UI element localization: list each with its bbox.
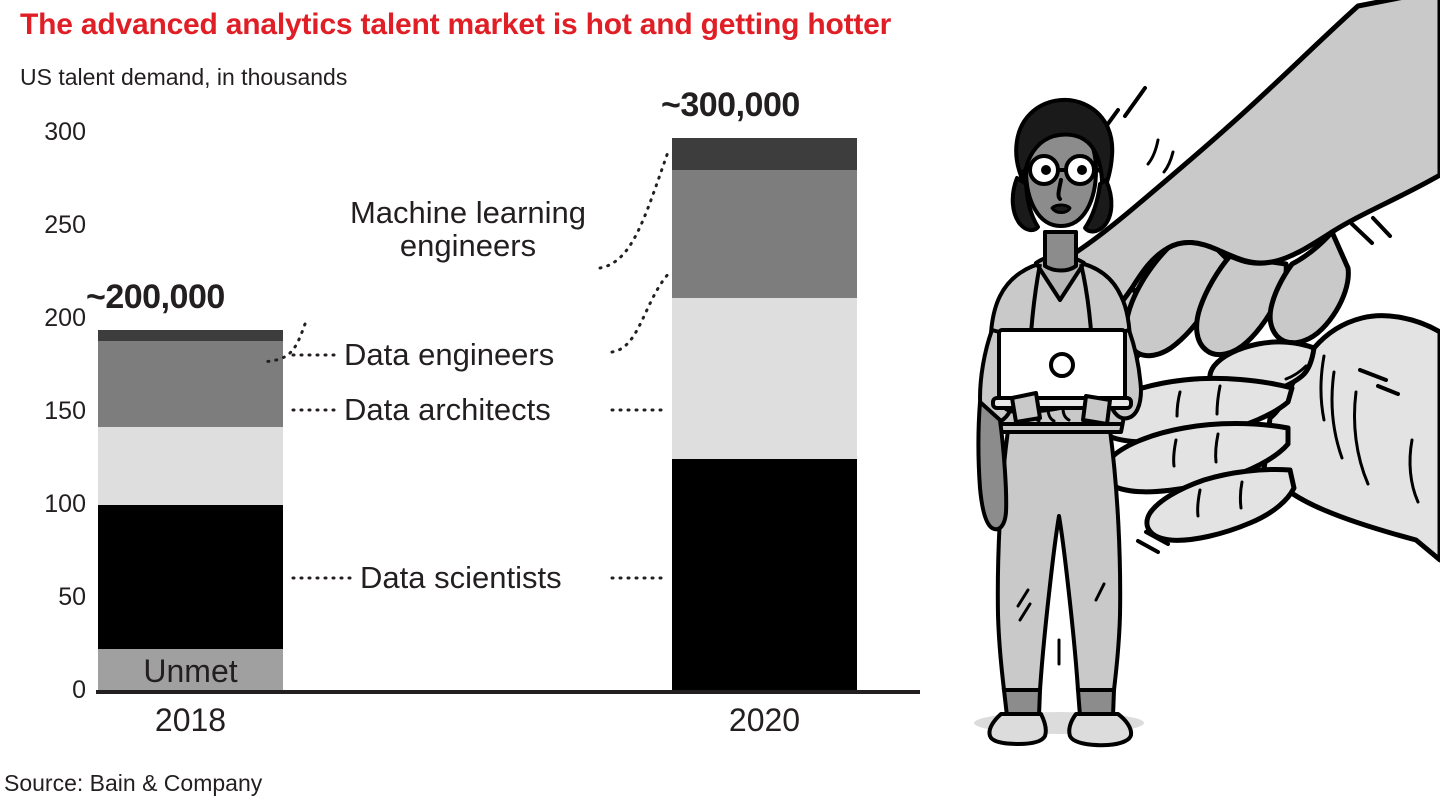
y-tick-0: 0 [6, 678, 86, 703]
callout-ml-engineers-line2: engineers [318, 229, 618, 262]
bar-2018-segment-unmet-label: Unmet [98, 655, 283, 687]
bar-2018-segment-data-scientists[interactable] [98, 505, 283, 649]
y-tick-150: 150 [6, 399, 86, 424]
y-tick-200: 200 [6, 306, 86, 331]
y-tick-100: 100 [6, 492, 86, 517]
bar-2020-segment-data-engineers[interactable] [672, 170, 857, 298]
callout-data-scientists: Data scientists [360, 561, 562, 594]
bar-2020[interactable] [672, 138, 857, 690]
bar-2020-total-label: ~300,000 [661, 86, 800, 125]
callout-ml-engineers-line1: Machine learning [318, 196, 618, 229]
bar-2018-segment-ml-engineers[interactable] [98, 330, 283, 341]
bar-2020-segment-data-architects[interactable] [672, 298, 857, 459]
bar-2018-segment-data-architects[interactable] [98, 427, 283, 505]
x-tick-2020: 2020 [672, 702, 857, 739]
chart-plot-area: 300 250 200 150 100 50 0 Unmet ~200,000 … [0, 0, 920, 760]
bar-2018-segment-data-engineers[interactable] [98, 341, 283, 427]
infographic-root: The advanced analytics talent market is … [0, 0, 1440, 810]
y-tick-300: 300 [6, 120, 86, 145]
illustration [900, 0, 1440, 770]
y-axis: 300 250 200 150 100 50 0 [0, 0, 86, 760]
source-note: Source: Bain & Company [4, 770, 262, 797]
callout-data-architects: Data architects [344, 393, 551, 426]
person-with-laptop [979, 100, 1142, 745]
bar-2018[interactable]: Unmet [98, 330, 283, 690]
bar-2020-segment-data-scientists[interactable] [672, 459, 857, 690]
callout-ml-engineers: Machine learning engineers [318, 196, 618, 263]
y-tick-50: 50 [6, 585, 86, 610]
x-axis-baseline [96, 690, 920, 694]
x-tick-2018: 2018 [98, 702, 283, 739]
bar-2018-total-label: ~200,000 [86, 278, 225, 317]
bar-2020-segment-ml-engineers[interactable] [672, 138, 857, 170]
leader-dataeng-2020 [612, 272, 670, 352]
y-tick-250: 250 [6, 213, 86, 238]
callout-data-engineers: Data engineers [344, 338, 554, 371]
